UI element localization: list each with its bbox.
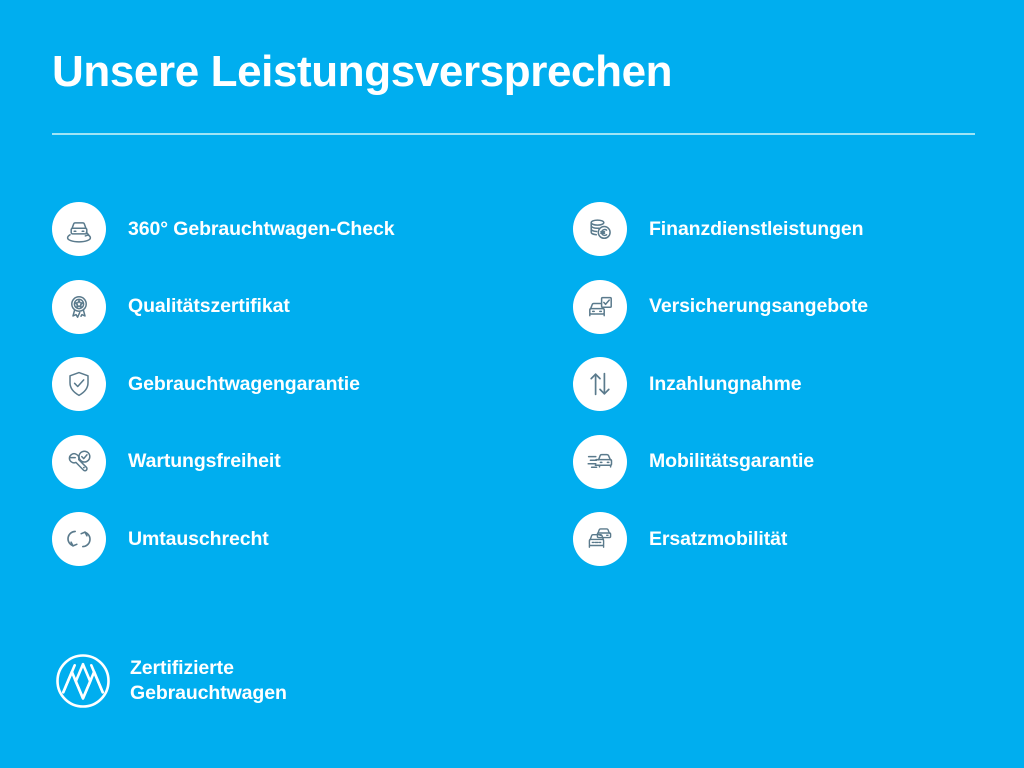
benefit-item-trade-in[interactable]: Inzahlungnahme (573, 352, 976, 416)
benefit-item-used-car-warranty[interactable]: Gebrauchtwagengarantie (52, 352, 573, 416)
brand-footer: Zertifizierte Gebrauchtwagen (54, 652, 287, 710)
benefit-item-insurance-offers[interactable]: Versicherungsangebote (573, 275, 976, 339)
benefit-item-return-right[interactable]: Umtauschrecht (52, 507, 573, 571)
benefit-item-mobility-guarantee[interactable]: Mobilitätsgarantie (573, 430, 976, 494)
two-cars-icon (573, 512, 627, 566)
benefit-label: Finanzdienstleistungen (649, 218, 863, 241)
arrows-up-down-icon (573, 357, 627, 411)
benefit-label: Mobilitätsgarantie (649, 450, 814, 473)
benefit-item-maintenance-free[interactable]: Wartungsfreiheit (52, 430, 573, 494)
wrench-check-icon (52, 435, 106, 489)
benefit-label: Wartungsfreiheit (128, 450, 281, 473)
exchange-arrows-icon (52, 512, 106, 566)
benefit-label: Gebrauchtwagengarantie (128, 373, 360, 396)
award-medal-star-icon (52, 280, 106, 334)
shield-check-icon (52, 357, 106, 411)
volkswagen-logo (54, 652, 112, 710)
page-title: Unsere Leistungsversprechen (52, 50, 976, 94)
benefits-grid: 360° Gebrauchtwagen-Check Finanzdienstle… (52, 197, 976, 585)
benefit-item-360-check[interactable]: 360° Gebrauchtwagen-Check (52, 197, 573, 261)
title-divider (52, 133, 975, 135)
benefit-label: Qualitätszertifikat (128, 295, 290, 318)
benefit-label: 360° Gebrauchtwagen-Check (128, 218, 394, 241)
benefit-label: Umtauschrecht (128, 528, 269, 551)
euro-coins-icon (573, 202, 627, 256)
car-360-check-icon (52, 202, 106, 256)
promise-poster: Unsere Leistungsversprechen 360° Gebrauc… (0, 0, 1024, 768)
benefit-label: Ersatzmobilität (649, 528, 787, 551)
benefit-item-quality-certificate[interactable]: Qualitätszertifikat (52, 275, 573, 339)
car-insurance-form-icon (573, 280, 627, 334)
header: Unsere Leistungsversprechen (52, 50, 976, 94)
brand-text: Zertifizierte Gebrauchtwagen (130, 656, 287, 705)
benefit-item-replacement-mobility[interactable]: Ersatzmobilität (573, 507, 976, 571)
car-speed-icon (573, 435, 627, 489)
benefit-label: Versicherungsangebote (649, 295, 868, 318)
benefit-label: Inzahlungnahme (649, 373, 801, 396)
benefit-item-financial-services[interactable]: Finanzdienstleistungen (573, 197, 976, 261)
